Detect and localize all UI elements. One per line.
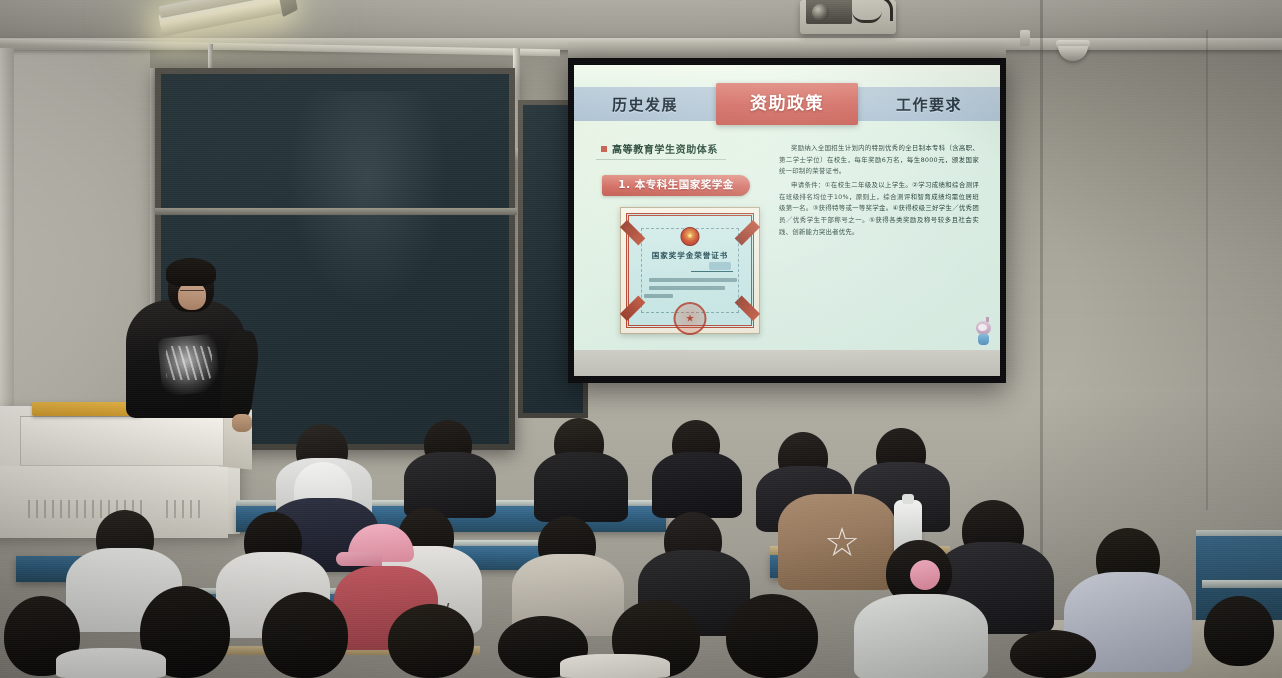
- national-emblem-icon: [681, 227, 700, 246]
- wall-seam-right: [1206, 30, 1208, 510]
- tab-history[interactable]: 历史发展: [574, 94, 716, 115]
- official-seal-icon: [674, 302, 707, 335]
- side-desk-shelf: [1202, 580, 1282, 588]
- slide-paragraph-2: 申请条件：①在校生二年级及以上学生。②学习成绩和综合测评在班级排名均位于10%，…: [779, 180, 979, 238]
- glasses-icon: [180, 290, 204, 297]
- tab-funding-policy[interactable]: 资助政策: [716, 83, 858, 125]
- cap-brim: [336, 552, 382, 566]
- section-heading-label: 高等教育学生资助体系: [612, 141, 718, 156]
- bottle-cap: [902, 494, 914, 504]
- student-head: [726, 594, 818, 678]
- student-torso: [534, 452, 628, 522]
- wall-trim: [0, 48, 14, 468]
- lecture-hall-photo: 历史发展 资助政策 工作要求 高等教育学生资助体系 1. 本专科生国家奖学金 国…: [0, 0, 1282, 678]
- blackboard-ledge: [155, 208, 517, 215]
- slide-section-heading: 高等教育学生资助体系: [596, 139, 726, 160]
- certificate-title: 国家奖学金荣誉证书: [629, 250, 751, 261]
- wall-seam: [1040, 0, 1043, 560]
- podium-vent-secondary: [166, 500, 200, 518]
- slide-body-text: 奖励纳入全国招生计划内的特别优秀的全日制本专科（含高职、第二学士学位）在校生，每…: [779, 143, 979, 240]
- student-torso: [56, 648, 166, 678]
- tshirt-graphic-detail: [166, 346, 212, 380]
- wall-sensor: [1020, 30, 1030, 46]
- certificate-image: 国家奖学金荣誉证书: [620, 207, 760, 334]
- presenter-hair: [166, 258, 216, 286]
- tab-work-requirements[interactable]: 工作要求: [858, 94, 1000, 115]
- projector-lens: [812, 4, 829, 21]
- student-torso: [854, 594, 988, 678]
- slide-body: 高等教育学生资助体系 1. 本专科生国家奖学金 国家奖学金荣誉证书: [574, 129, 1000, 351]
- pink-scrunchie-icon: [910, 560, 940, 590]
- student-head: [388, 604, 474, 678]
- mascot-logo-icon: [975, 319, 992, 346]
- student-head: [1010, 630, 1096, 678]
- star-graphic-icon: ☆: [822, 524, 862, 562]
- podium-front-panel: [20, 416, 224, 466]
- student-head: [262, 592, 348, 678]
- student-torso: [652, 452, 742, 518]
- slide-footer-strip: [574, 350, 1000, 376]
- student-head: [1204, 596, 1274, 666]
- slide-tab-bar: 历史发展 资助政策 工作要求: [574, 87, 1000, 121]
- bullet-square-icon: [601, 146, 607, 152]
- presenter-hand: [232, 414, 252, 432]
- student-torso: [560, 654, 670, 678]
- slide-item-pill: 1. 本专科生国家奖学金: [602, 175, 750, 196]
- presentation-slide: 历史发展 资助政策 工作要求 高等教育学生资助体系 1. 本专科生国家奖学金 国…: [574, 65, 1000, 376]
- slide-paragraph-1: 奖励纳入全国招生计划内的特别优秀的全日制本专科（含高职、第二学士学位）在校生，每…: [779, 143, 979, 178]
